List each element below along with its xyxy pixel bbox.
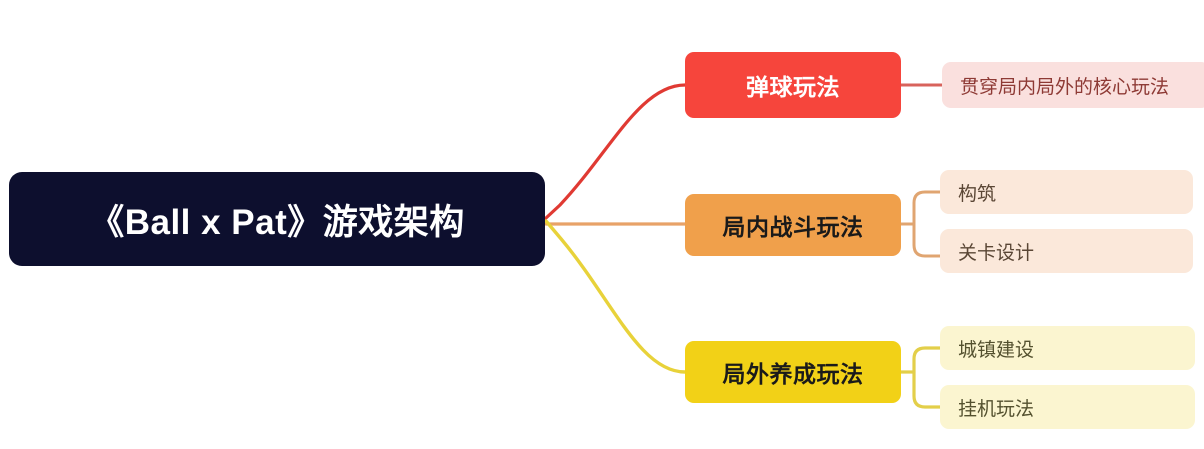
leaf-node-label: 城镇建设 bbox=[958, 335, 1034, 362]
leaf-node-town-building[interactable]: 城镇建设 bbox=[940, 326, 1195, 370]
connector-branch-1-bracket bbox=[914, 192, 940, 256]
connector-root-to-branch-2 bbox=[546, 221, 685, 372]
root-node[interactable]: 《Ball x Pat》游戏架构 bbox=[9, 172, 545, 266]
branch-node-ingame-combat[interactable]: 局内战斗玩法 bbox=[685, 194, 901, 256]
branch-node-label: 局外养成玩法 bbox=[723, 355, 864, 389]
mindmap-canvas: 《Ball x Pat》游戏架构 弹球玩法 贯穿局内局外的核心玩法 局内战斗玩法… bbox=[0, 0, 1204, 449]
connector-root-to-branch-0 bbox=[546, 85, 685, 218]
leaf-node-label: 关卡设计 bbox=[958, 238, 1034, 265]
leaf-node-label: 构筑 bbox=[958, 179, 996, 206]
leaf-node-build[interactable]: 构筑 bbox=[940, 170, 1193, 214]
leaf-node-label: 挂机玩法 bbox=[958, 394, 1034, 421]
leaf-node-label: 贯穿局内局外的核心玩法 bbox=[960, 72, 1169, 99]
leaf-node-core-gameplay[interactable]: 贯穿局内局外的核心玩法 bbox=[942, 62, 1204, 108]
connector-branch-2-bracket bbox=[914, 348, 940, 407]
branch-node-label: 弹球玩法 bbox=[746, 68, 840, 102]
branch-node-bounce-gameplay[interactable]: 弹球玩法 bbox=[685, 52, 901, 118]
branch-node-label: 局内战斗玩法 bbox=[723, 208, 864, 242]
leaf-node-level-design[interactable]: 关卡设计 bbox=[940, 229, 1193, 273]
branch-node-meta-progression[interactable]: 局外养成玩法 bbox=[685, 341, 901, 403]
root-node-label: 《Ball x Pat》游戏架构 bbox=[89, 194, 465, 245]
leaf-node-idle-gameplay[interactable]: 挂机玩法 bbox=[940, 385, 1195, 429]
